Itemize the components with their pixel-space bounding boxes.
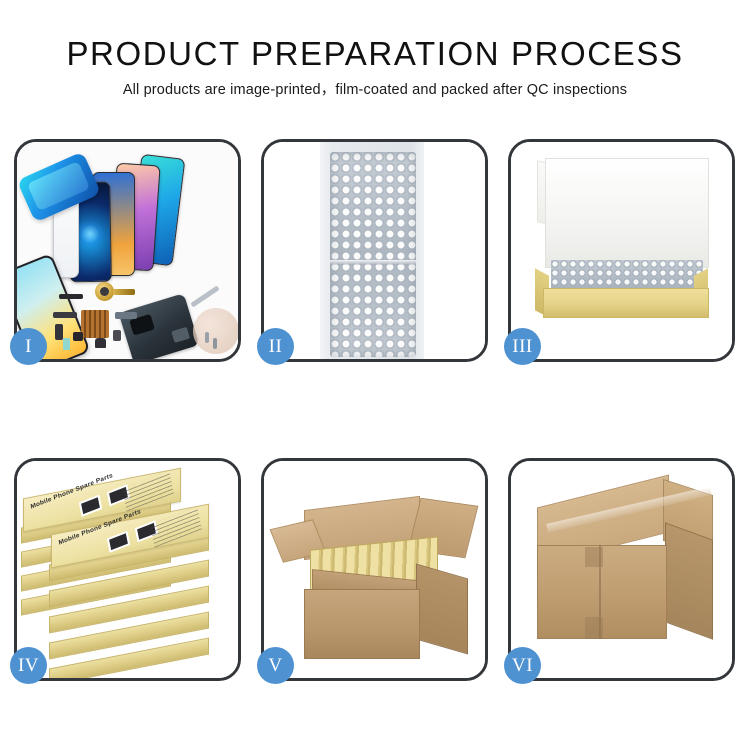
- small-chip-2-icon: [95, 338, 106, 348]
- small-chip-4-icon: [63, 338, 70, 350]
- open-carton-illustration: [264, 461, 485, 678]
- step-badge-1: I: [10, 328, 47, 365]
- phones-and-parts-illustration: [17, 142, 238, 359]
- flex-cable-b-icon: [55, 324, 63, 340]
- process-steps-grid: I II: [14, 139, 736, 681]
- panel-4-image: Mobile Phone Spare Parts Mobile Phone Sp…: [17, 461, 238, 678]
- speaker-part-icon: [59, 294, 83, 299]
- flex-cable-c-icon: [115, 312, 137, 319]
- process-step-panel-5: V: [261, 458, 488, 681]
- open-inner-box-illustration: [511, 142, 732, 359]
- product-preparation-page: PRODUCT PREPARATION PROCESS All products…: [0, 0, 750, 750]
- step-badge-6: VI: [504, 647, 541, 684]
- stacked-boxes-illustration: Mobile Phone Spare Parts Mobile Phone Sp…: [17, 461, 238, 678]
- carton-tab-top-icon: [585, 547, 603, 567]
- panel-5-image: [264, 461, 485, 678]
- screw-2-icon: [213, 338, 217, 349]
- process-step-panel-3: III: [508, 139, 735, 362]
- panel-6-image: [511, 461, 732, 678]
- small-chip-3-icon: [113, 330, 121, 341]
- page-title: PRODUCT PREPARATION PROCESS: [0, 34, 750, 74]
- flex-cable-d-icon: [113, 289, 135, 295]
- step-badge-5: V: [257, 647, 294, 684]
- process-step-panel-2: II: [261, 139, 488, 362]
- vibration-motor-icon: [95, 282, 114, 301]
- flex-cable-a-icon: [53, 312, 77, 318]
- sealed-carton-illustration: [511, 461, 732, 678]
- process-step-panel-6: VI: [508, 458, 735, 681]
- phone-back-cover-icon: [119, 293, 200, 359]
- process-step-panel-4: Mobile Phone Spare Parts Mobile Phone Sp…: [14, 458, 241, 681]
- sealed-carton-side-icon: [665, 522, 713, 639]
- tweezers-icon: [190, 285, 219, 307]
- bubble-seam-icon: [330, 260, 416, 265]
- step-badge-3: III: [504, 328, 541, 365]
- screw-1-icon: [205, 332, 209, 343]
- box-screen-image-1: [79, 495, 102, 517]
- bubble-wrapped-contents-icon: [551, 260, 703, 290]
- panel-3-image: [511, 142, 732, 359]
- box-screen-image-3: [107, 531, 130, 553]
- small-chip-1-icon: [73, 332, 83, 341]
- bubble-wrap-texture-icon: [330, 152, 416, 357]
- step-badge-4: IV: [10, 647, 47, 684]
- kraft-box-front-icon: [543, 288, 709, 318]
- copper-grid-part-icon: [81, 310, 109, 338]
- bubble-wrap-illustration: [264, 142, 485, 359]
- carton-body-front-icon: [304, 589, 420, 659]
- carton-tab-bottom-icon: [585, 617, 603, 639]
- page-subtitle: All products are image-printed，film-coat…: [0, 80, 750, 100]
- carton-body-side-icon: [416, 564, 468, 655]
- process-step-panel-1: I: [14, 139, 241, 362]
- panel-2-image: [264, 142, 485, 359]
- white-box-lid-icon: [545, 158, 709, 268]
- panel-1-image: [17, 142, 238, 359]
- page-header: PRODUCT PREPARATION PROCESS All products…: [0, 34, 750, 100]
- step-badge-2: II: [257, 328, 294, 365]
